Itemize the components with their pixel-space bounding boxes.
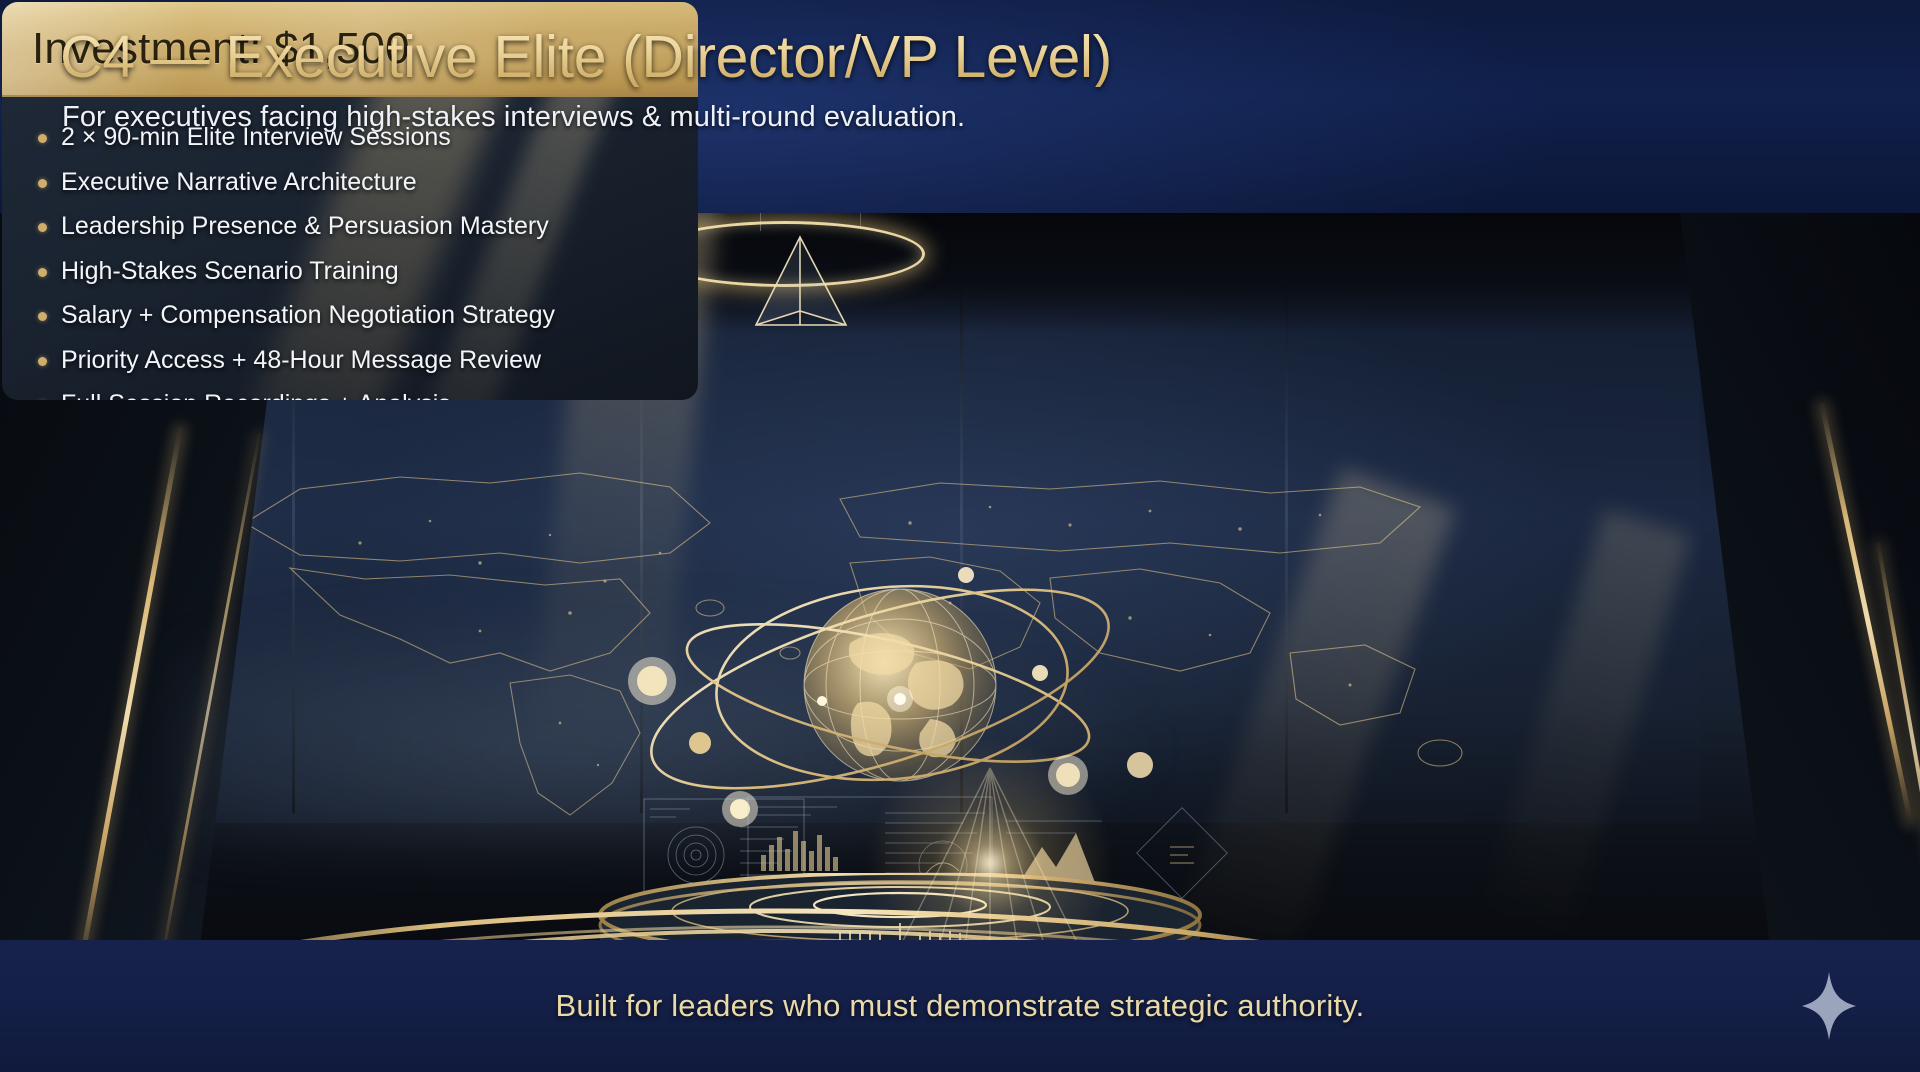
bullet-icon <box>38 312 47 321</box>
bullet-icon <box>38 134 47 143</box>
bullet-icon <box>38 223 47 232</box>
footer-band: Built for leaders who must demonstrate s… <box>0 940 1920 1072</box>
feature-label: Priority Access + 48-Hour Message Review <box>61 344 541 378</box>
wireframe-pyramid-icon <box>742 233 852 338</box>
bullet-icon <box>38 179 47 188</box>
footer-tagline: Built for leaders who must demonstrate s… <box>556 988 1365 1024</box>
feature-label: Leadership Presence & Persuasion Mastery <box>61 210 549 244</box>
bullet-icon <box>38 268 47 277</box>
bullet-icon <box>38 357 47 366</box>
feature-label: 2 × 90-min Elite Interview Sessions <box>61 121 451 155</box>
feature-label: Full Session Recordings + Analysis <box>61 388 451 402</box>
feature-label: Executive Narrative Architecture <box>61 166 417 200</box>
sparkle-icon <box>1800 970 1858 1042</box>
feature-label: High-Stakes Scenario Training <box>61 255 399 289</box>
list-item: Leadership Presence & Persuasion Mastery <box>38 210 672 244</box>
card-feature-body: 2 × 90-min Elite Interview Sessions Exec… <box>2 97 698 402</box>
list-item: 2 × 90-min Elite Interview Sessions <box>38 121 672 155</box>
list-item: Executive Narrative Architecture <box>38 166 672 200</box>
list-item: Full Session Recordings + Analysis <box>38 388 672 402</box>
feature-label: Salary + Compensation Negotiation Strate… <box>61 299 555 333</box>
list-item: High-Stakes Scenario Training <box>38 255 672 289</box>
page-title: C4 — Executive Elite (Director/VP Level) <box>60 28 1920 87</box>
list-item: Priority Access + 48-Hour Message Review <box>38 344 672 378</box>
slide-root: C4 — Executive Elite (Director/VP Level)… <box>0 0 1920 1072</box>
list-item: Salary + Compensation Negotiation Strate… <box>38 299 672 333</box>
feature-list: 2 × 90-min Elite Interview Sessions Exec… <box>38 121 672 402</box>
header-content: C4 — Executive Elite (Director/VP Level)… <box>0 0 1920 134</box>
light-rays <box>790 758 1190 940</box>
